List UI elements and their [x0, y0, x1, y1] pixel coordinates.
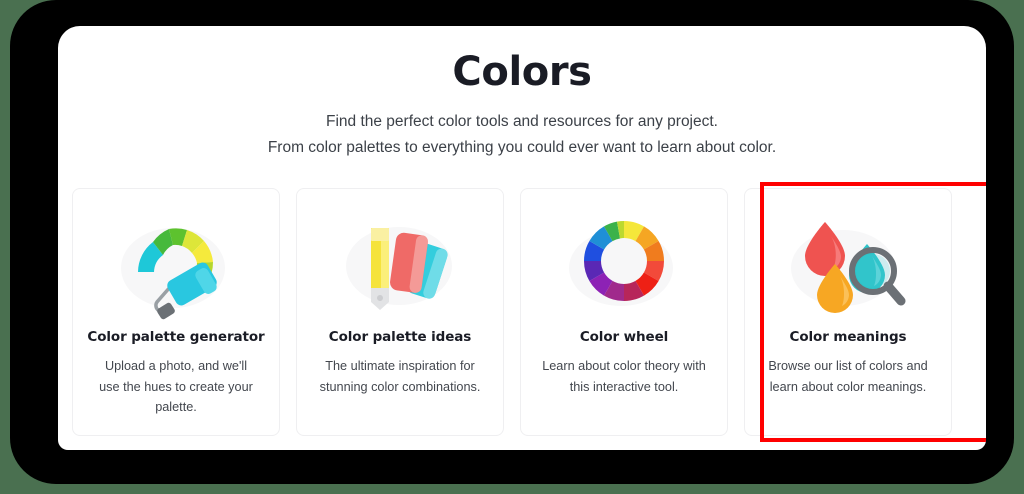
card-description: Browse our list of colors and learn abou… — [745, 356, 951, 397]
card-title: Color palette generator — [87, 329, 264, 345]
card-description: The ultimate inspiration for stunning co… — [297, 356, 503, 397]
subtitle-line-1: Find the perfect color tools and resourc… — [58, 109, 986, 136]
card-color-wheel[interactable]: Color wheel Learn about color theory wit… — [520, 188, 728, 436]
page-subtitle: Find the perfect color tools and resourc… — [58, 95, 986, 162]
tool-card-grid: Color palette generator Upload a photo, … — [72, 188, 972, 436]
paint-droplets-magnifier-icon — [783, 206, 913, 322]
card-title: Color wheel — [580, 329, 668, 345]
card-color-palette-generator[interactable]: Color palette generator Upload a photo, … — [72, 188, 280, 436]
subtitle-line-2: From color palettes to everything you co… — [58, 135, 986, 162]
color-swatch-fan-icon — [335, 206, 465, 322]
color-wheel-icon — [559, 206, 689, 322]
card-color-meanings[interactable]: Color meanings Browse our list of colors… — [744, 188, 952, 436]
page-title: Colors — [58, 26, 986, 95]
paint-roller-arc-icon — [111, 206, 241, 322]
card-description: Upload a photo, and we'll use the hues t… — [73, 356, 279, 418]
card-description: Learn about color theory with this inter… — [521, 356, 727, 397]
device-bezel: Colors Find the perfect color tools and … — [10, 0, 1014, 484]
card-title: Color palette ideas — [329, 329, 471, 345]
card-title: Color meanings — [790, 329, 907, 345]
browser-page-surface: Colors Find the perfect color tools and … — [58, 26, 986, 450]
card-color-palette-ideas[interactable]: Color palette ideas The ultimate inspira… — [296, 188, 504, 436]
